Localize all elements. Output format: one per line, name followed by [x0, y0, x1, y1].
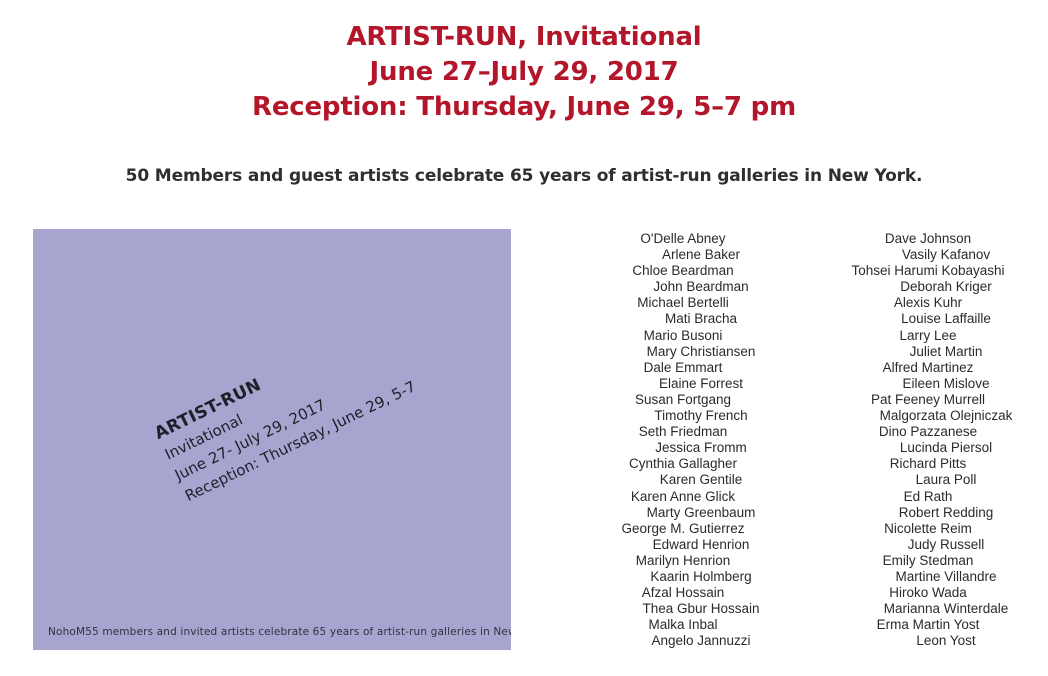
artist-name-row: Elaine Forrest	[556, 376, 810, 392]
artist-name-row: Mario Busoni	[556, 328, 810, 344]
artist-name-row: Tohsei Harumi Kobayashi	[816, 263, 1040, 279]
artist-name-row: Hiroko Wada	[816, 585, 1040, 601]
artist-name-row: Robert Redding	[816, 505, 1040, 521]
artist-name-row: Nicolette Reim	[816, 521, 1040, 537]
artist-name-row: Marianna Winterdale	[816, 601, 1040, 617]
artist-name-row: Alfred Martinez	[816, 360, 1040, 376]
artist-name-row: Emily Stedman	[816, 553, 1040, 569]
artist-column-right: Dave JohnsonVasily KafanovTohsei Harumi …	[810, 231, 1040, 676]
artist-name-row: Deborah Kriger	[816, 279, 1040, 295]
artist-name-row: Edward Henrion	[556, 537, 810, 553]
artist-column-left: O'Delle AbneyArlene BakerChloe BeardmanJ…	[540, 231, 810, 676]
artist-name-row: Jessica Fromm	[556, 440, 810, 456]
artist-name-row: George M. Gutierrez	[556, 521, 810, 537]
artist-name-row: Karen Gentile	[556, 472, 810, 488]
artist-name-row: Juliet Martin	[816, 344, 1040, 360]
artist-name-row: Arlene Baker	[556, 247, 810, 263]
artist-name-row: Mati Bracha	[556, 311, 810, 327]
poster-image: ARTIST-RUN Invitational June 27- July 29…	[33, 229, 511, 650]
artist-name-row: Malgorzata Olejniczak	[816, 408, 1040, 424]
artist-name-row: Angelo Jannuzzi	[556, 633, 810, 649]
artist-name-row: Laura Poll	[816, 472, 1040, 488]
artist-name-row: Leon Yost	[816, 633, 1040, 649]
artist-name-row: Michael Bertelli	[556, 295, 810, 311]
artist-name-row: Martine Villandre	[816, 569, 1040, 585]
artist-name-row: Susan Fortgang	[556, 392, 810, 408]
artist-name-row: Cynthia Gallagher	[556, 456, 810, 472]
artist-name-row: Thea Gbur Hossain	[556, 601, 810, 617]
artist-name-row: Alexis Kuhr	[816, 295, 1040, 311]
title-line-2: June 27–July 29, 2017	[0, 55, 1048, 90]
artist-name-row: Chloe Beardman	[556, 263, 810, 279]
artist-name-row: Larry Lee	[816, 328, 1040, 344]
artist-name-row: Dave Johnson	[816, 231, 1040, 247]
artist-name-row: Richard Pitts	[816, 456, 1040, 472]
page-header: ARTIST-RUN, Invitational June 27–July 29…	[0, 20, 1048, 125]
artist-name-row: Pat Feeney Murrell	[816, 392, 1040, 408]
artist-name-row: Malka Inbal	[556, 617, 810, 633]
artist-name-row: Marty Greenbaum	[556, 505, 810, 521]
artist-name-row: Judy Russell	[816, 537, 1040, 553]
subtitle-text: 50 Members and guest artists celebrate 6…	[0, 166, 1048, 186]
artist-name-row: Kaarin Holmberg	[556, 569, 810, 585]
artist-name-row: Seth Friedman	[556, 424, 810, 440]
artist-name-row: Vasily Kafanov	[816, 247, 1040, 263]
artist-name-row: Erma Martin Yost	[816, 617, 1040, 633]
artist-name-row: Mary Christiansen	[556, 344, 810, 360]
artist-name-row: O'Delle Abney	[556, 231, 810, 247]
title-line-1: ARTIST-RUN, Invitational	[0, 20, 1048, 55]
poster-caption: NohoM55 members and invited artists cele…	[48, 626, 498, 638]
artist-name-row: Marilyn Henrion	[556, 553, 810, 569]
artist-name-row: Dale Emmart	[556, 360, 810, 376]
artist-name-row: John Beardman	[556, 279, 810, 295]
artist-name-row: Ed Rath	[816, 489, 1040, 505]
artist-name-row: Eileen Mislove	[816, 376, 1040, 392]
artist-name-row: Karen Anne Glick	[556, 489, 810, 505]
artist-name-row: Timothy French	[556, 408, 810, 424]
artist-name-row: Lucinda Piersol	[816, 440, 1040, 456]
clipped-name-row	[540, 649, 1040, 656]
artist-name-lists: O'Delle AbneyArlene BakerChloe BeardmanJ…	[540, 231, 1040, 676]
artist-name-row: Dino Pazzanese	[816, 424, 1040, 440]
artist-name-row: Afzal Hossain	[556, 585, 810, 601]
poster-diagonal-text: ARTIST-RUN Invitational June 27- July 29…	[151, 280, 488, 507]
title-line-3: Reception: Thursday, June 29, 5–7 pm	[0, 90, 1048, 125]
artist-name-row: Louise Laffaille	[816, 311, 1040, 327]
